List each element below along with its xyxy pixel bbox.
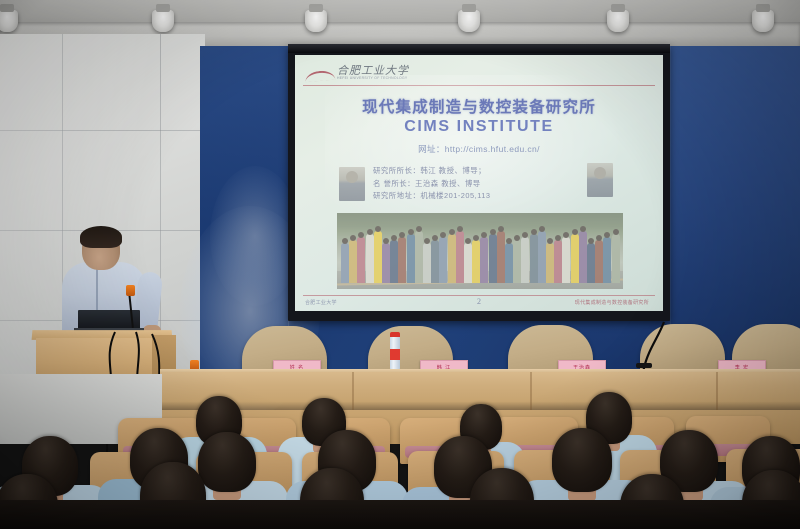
photo-person [489,234,497,283]
photo-person-head [539,226,545,232]
ceiling-light-icon [152,10,174,32]
url-value: http://cims.hfut.edu.cn/ [445,144,540,154]
slide-website-url: 网址：http://cims.hfut.edu.cn/ [295,143,663,155]
photo-person-head [367,229,373,235]
photo-person [603,237,611,283]
photo-person [431,240,439,283]
ceiling-light-icon [752,10,774,32]
photo-person [472,240,480,283]
table-panel-seam [352,372,354,414]
photo-person-head [449,229,455,235]
photo-person-head [408,229,414,235]
photo-person [571,234,579,283]
photo-person [546,243,554,283]
mic-base [636,363,652,368]
photo-person [357,237,365,283]
photo-person [521,237,529,283]
info-line: 名 誉所长：王治森 教授、博导 [373,178,588,191]
ceiling-light-icon [458,10,480,32]
slide-info-block: 研究所所长：韩江 教授、博导； 名 誉所长：王治森 教授、博导 研究所地址：机械… [373,165,588,203]
mic-head-icon [126,285,135,296]
photo-person [398,237,406,283]
photo-person-head [588,238,594,244]
photo-person-head [490,229,496,235]
footer-rule [303,295,655,296]
photo-person-head [383,238,389,244]
photo-person-head [613,229,619,235]
photo-person [595,240,603,283]
screen-top-bar [288,44,670,53]
slide-title-english: CIMS INSTITUTE [295,118,663,136]
foreground-shadow [0,500,800,529]
photo-person [374,231,382,283]
photo-person-head [342,238,348,244]
photo-person [587,243,595,283]
photo-person [439,237,447,283]
audience-member-head [552,428,612,492]
photo-person-head [375,226,381,232]
photo-person [390,240,398,283]
photo-person-head [416,226,422,232]
photo-person [538,231,546,283]
portrait-right [587,163,613,197]
url-label: 网址： [418,144,445,154]
photo-person [497,231,505,283]
photo-person [562,237,570,283]
photo-person [513,240,521,283]
lecture-hall-photo: 合肥工业大学 HEFEI UNIVERSITY OF TECHNOLOGY 现代… [0,0,800,529]
photo-person-head [457,226,463,232]
photo-person [530,234,538,283]
table-panel-seam [530,372,532,414]
photo-person [505,243,513,283]
photo-person [415,231,423,283]
bottle-cap [390,332,400,337]
audience-member-head [198,432,256,492]
photo-person [382,243,390,283]
photo-person [448,234,456,283]
photo-person-head [580,226,586,232]
slide-title-chinese: 现代集成制造与数控装备研究所 [295,95,663,117]
bottle-label [390,349,400,360]
presentation-slide: 合肥工业大学 HEFEI UNIVERSITY OF TECHNOLOGY 现代… [295,55,663,311]
table-panel-seam [716,372,718,414]
projection-screen: 合肥工业大学 HEFEI UNIVERSITY OF TECHNOLOGY 现代… [288,44,670,321]
photo-person-head [465,238,471,244]
photo-person [341,243,349,283]
info-line: 研究所地址：机械楼201-205,113 [373,190,588,203]
water-bottle [390,336,400,370]
photo-person-head [498,226,504,232]
photo-person [456,231,464,283]
ceiling-light-icon [607,10,629,32]
photo-person [612,234,620,283]
group-photo [337,213,623,289]
photo-person [366,234,374,283]
photo-person-head [572,229,578,235]
info-line: 研究所所长：韩江 教授、博导； [373,165,588,178]
photo-person [554,240,562,283]
speaker-hair [80,226,122,248]
photo-person-head [424,238,430,244]
photo-person [579,231,587,283]
slide-footer-right: 现代集成制造与数控装备研究所 [575,299,649,306]
photo-person-head [547,238,553,244]
ceiling-light-icon [0,10,18,32]
photo-person [464,243,472,283]
ceiling-light-icon [305,10,327,32]
photo-person [423,243,431,283]
photo-person [349,240,357,283]
photo-person-head [531,229,537,235]
photo-person-head [506,238,512,244]
photo-person [480,237,488,283]
photo-person [407,234,415,283]
portrait-left [339,167,365,201]
